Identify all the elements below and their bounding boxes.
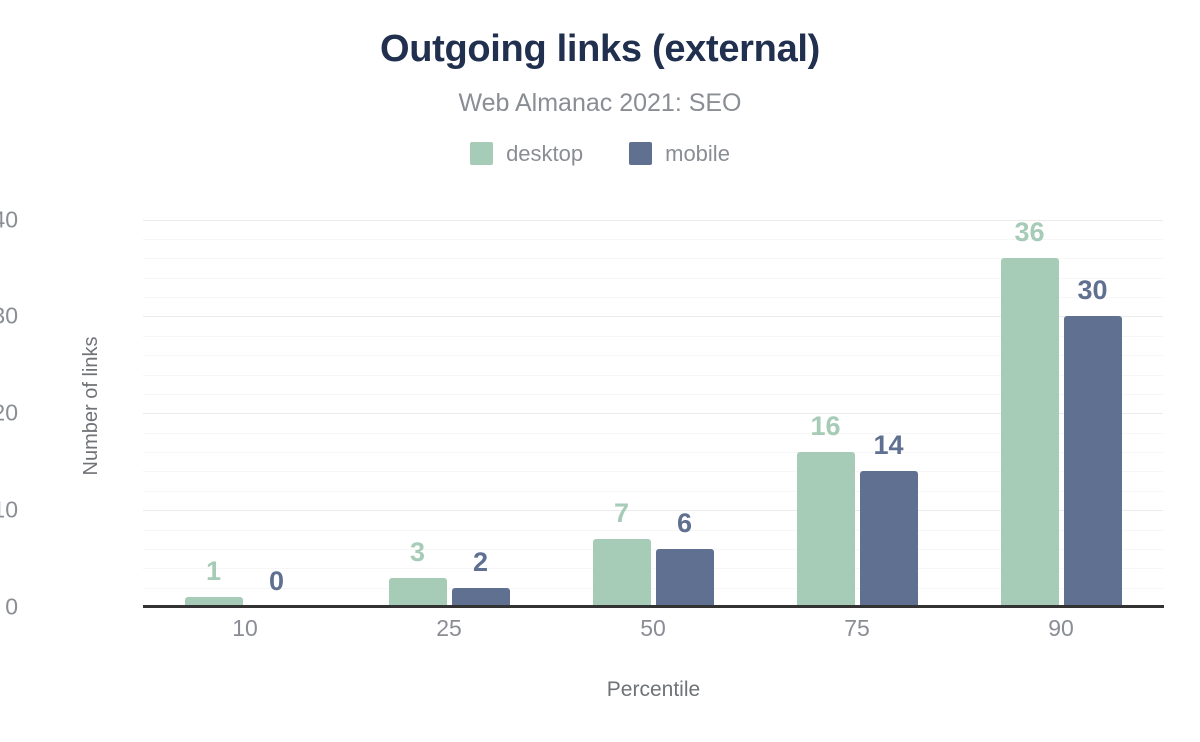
bar-value-label-mobile-75: 14 [860,432,918,459]
legend-swatch-desktop [470,142,493,165]
y-axis-tick-label: 10 [0,499,18,522]
bar-desktop-75[interactable] [797,452,855,607]
y-axis-tick-label: 20 [0,402,18,425]
chart-subtitle: Web Almanac 2021: SEO [0,90,1200,118]
legend-item-mobile[interactable]: mobile [629,142,730,165]
bar-value-label-desktop-90: 36 [1001,219,1059,246]
x-axis-tick-label: 90 [981,617,1141,640]
x-axis-tick-label: 50 [573,617,733,640]
bar-value-label-mobile-25: 2 [452,549,510,576]
legend-item-desktop[interactable]: desktop [470,142,583,165]
y-axis-tick-label: 0 [0,596,18,619]
chart-figure: Outgoing links (external) Web Almanac 20… [0,0,1200,742]
bar-mobile-90[interactable] [1064,316,1122,607]
bar-value-label-mobile-50: 6 [656,510,714,537]
bar-desktop-90[interactable] [1001,258,1059,607]
x-axis-title: Percentile [143,679,1164,700]
legend-swatch-mobile [629,142,652,165]
legend-label-desktop: desktop [506,143,583,165]
y-axis-title: Number of links [80,337,103,476]
bar-value-label-desktop-50: 7 [593,500,651,527]
bar-desktop-25[interactable] [389,578,447,607]
bar-desktop-50[interactable] [593,539,651,607]
bar-mobile-50[interactable] [656,549,714,607]
bar-mobile-75[interactable] [860,471,918,607]
x-axis-tick-label: 25 [369,617,529,640]
x-axis-tick-label: 10 [165,617,325,640]
chart-title: Outgoing links (external) [0,29,1200,71]
y-axis-tick-label: 30 [0,305,18,328]
bar-value-label-desktop-25: 3 [389,539,447,566]
bar-value-label-mobile-90: 30 [1064,277,1122,304]
bar-value-label-desktop-75: 16 [797,413,855,440]
y-axis-tick-label: 40 [0,208,18,231]
chart-legend: desktop mobile [0,142,1200,165]
legend-label-mobile: mobile [665,143,730,165]
bar-value-label-mobile-10: 0 [248,568,306,595]
x-axis-tick-label: 75 [777,617,937,640]
x-axis-baseline [143,605,1164,608]
plot-area: 10327616143630 [143,205,1163,607]
bar-value-label-desktop-10: 1 [185,558,243,585]
